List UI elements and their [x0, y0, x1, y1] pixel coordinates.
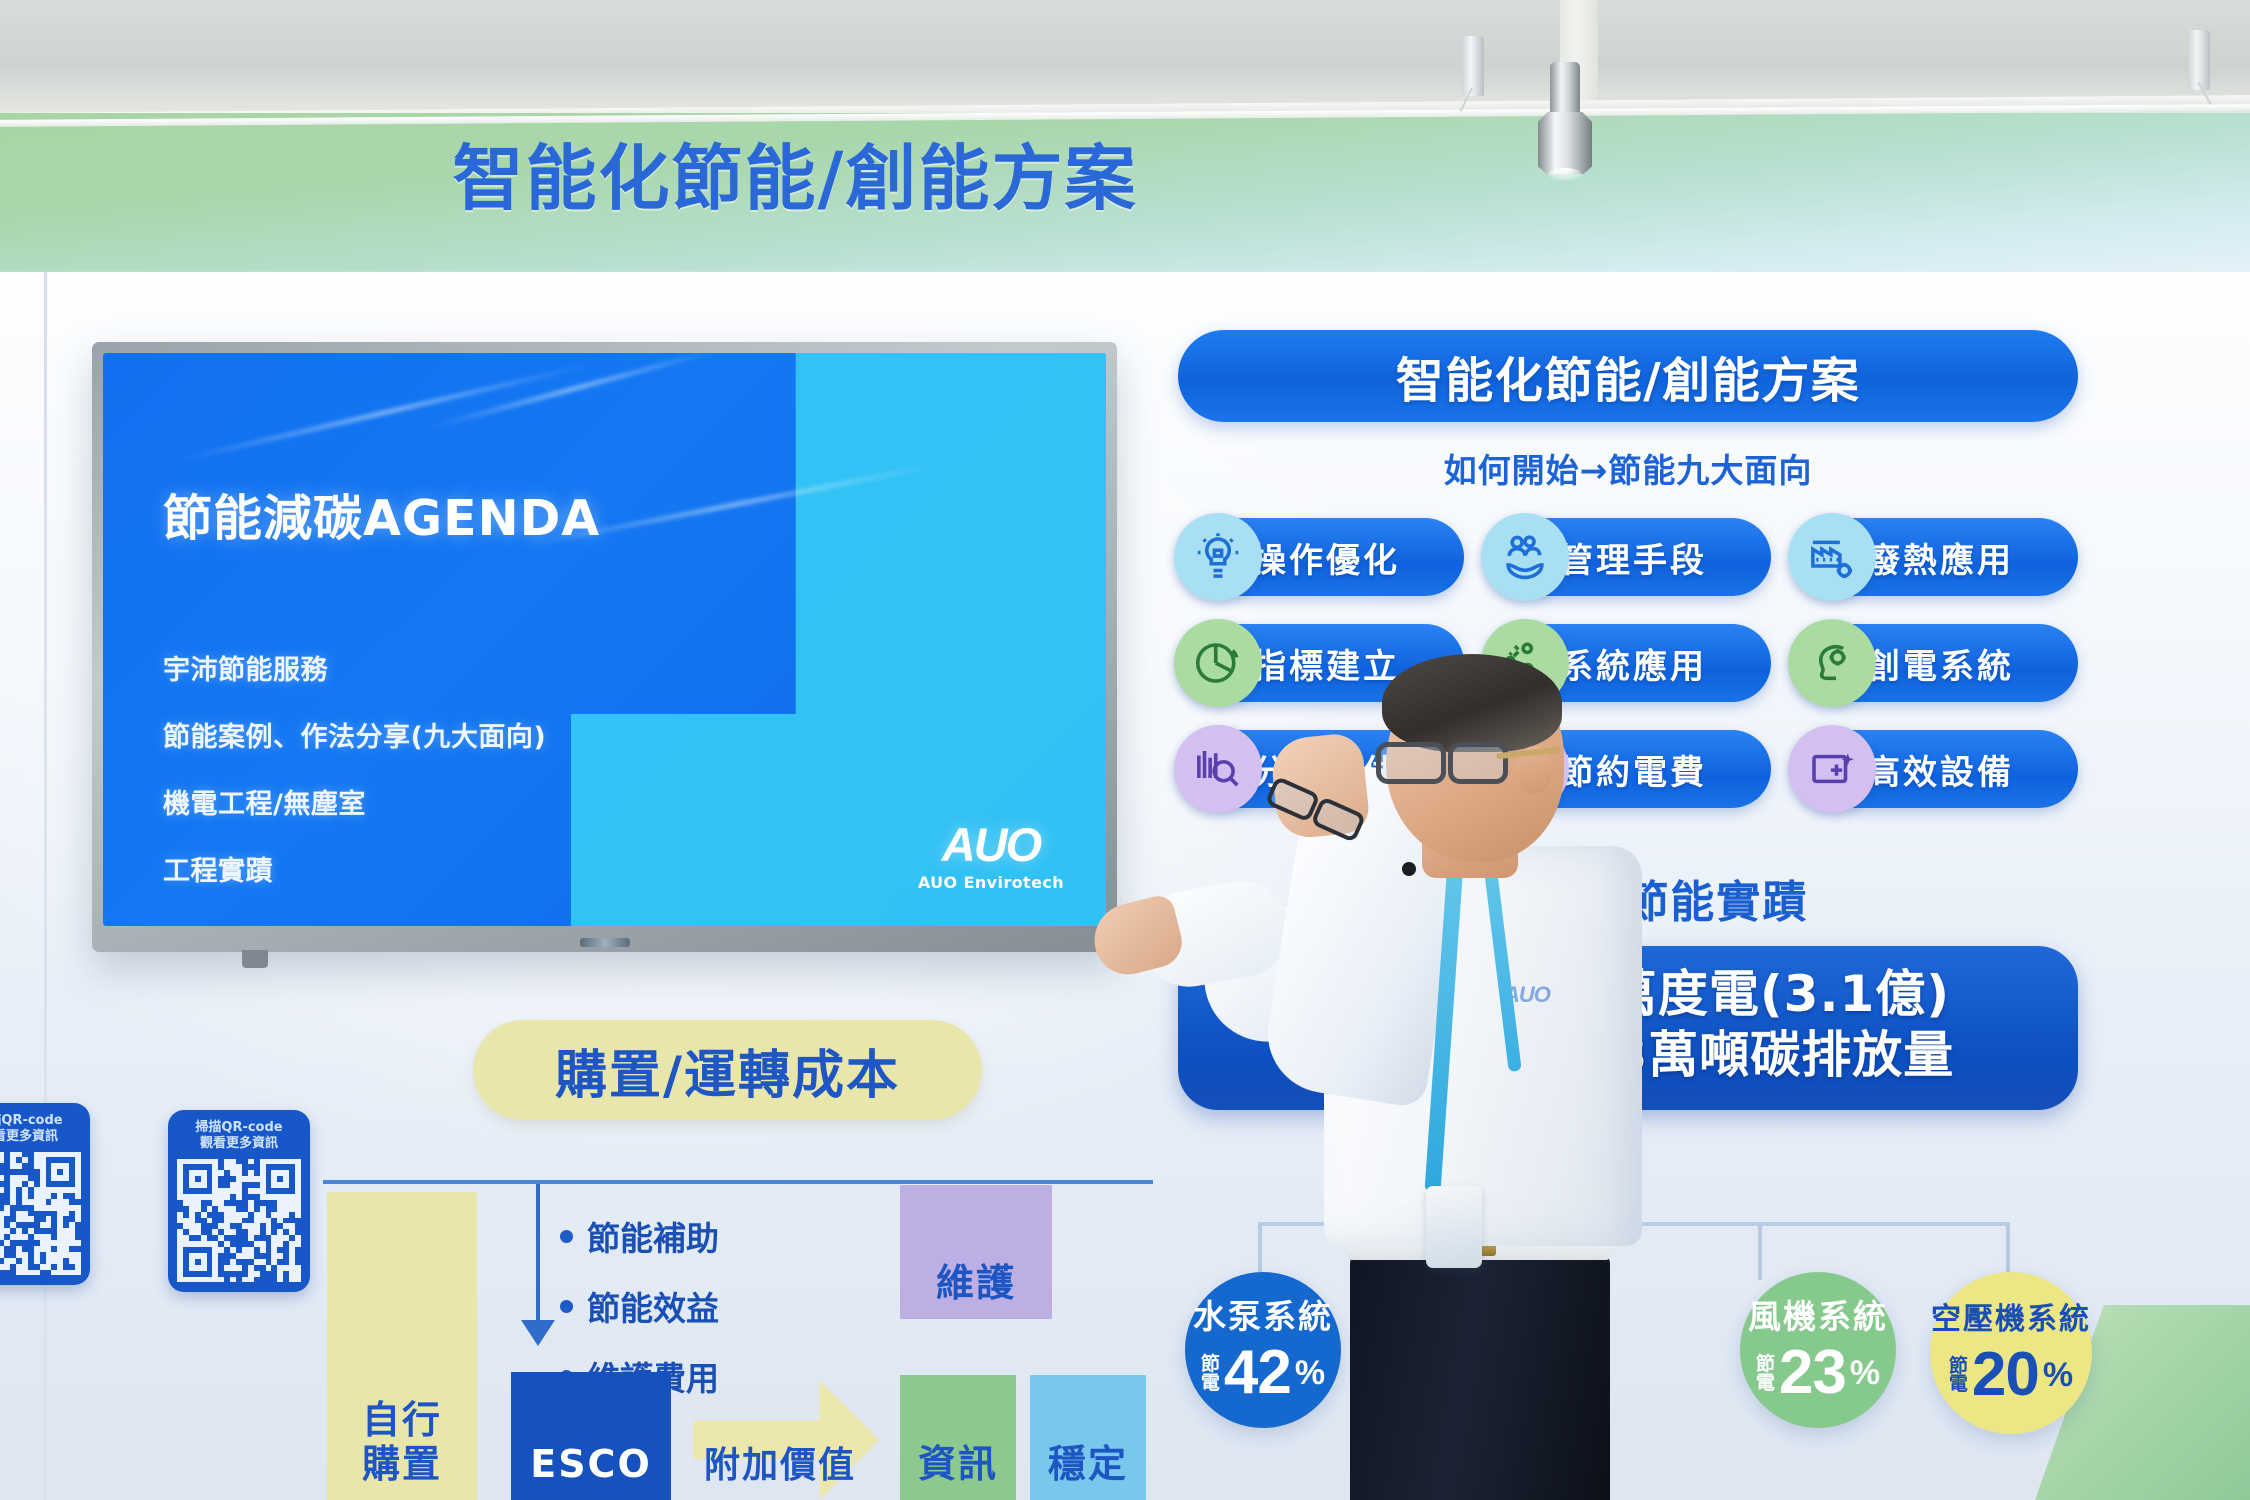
aspect-pill[interactable]: 廢熱應用	[1792, 518, 2078, 596]
kpi-system: 風機系統	[1748, 1300, 1888, 1333]
bullet-dot	[560, 1300, 573, 1313]
aspect-label: 管理手段	[1559, 533, 1707, 582]
kpi-prefix: 節電	[1201, 1355, 1220, 1391]
poster-heading: 智能化節能/創能方案	[1178, 330, 2078, 422]
presenter-id-badge	[1426, 1186, 1482, 1268]
cost-poster-heading: 購置/運轉成本	[473, 1020, 982, 1120]
cost-bar-label: 穩定	[1048, 1442, 1128, 1500]
kpi-value: 23	[1779, 1347, 1846, 1400]
presenter-trousers	[1350, 1250, 1610, 1500]
qr-caption: 掃描QR-code 觀看更多資訊	[177, 1120, 301, 1153]
brain-gear-icon	[1788, 619, 1876, 707]
booth-title: 智能化節能/創能方案	[0, 122, 1590, 224]
added-value-label: 附加價值	[695, 1436, 865, 1488]
slide-bullet-list: 宇沛節能服務 節能案例、作法分享(九大面向) 機電工程/無塵室 工程實蹟	[163, 648, 546, 888]
cost-bullet: 節能補助	[560, 1212, 719, 1260]
presentation-display[interactable]: 節能減碳AGENDA 宇沛節能服務 節能案例、作法分享(九大面向) 機電工程/無…	[92, 342, 1117, 952]
kpi-circle: 空壓機系統 節電 20 %	[1930, 1272, 2092, 1434]
exhibition-booth-scene: 智能化節能/創能方案 節能減碳AGENDA 宇沛節能服務 節能案例、作法分享(九…	[0, 0, 2250, 1500]
cost-bar-stability: 穩定	[1030, 1375, 1146, 1500]
qr-caption-line-2: 觀看更多資訊	[200, 1136, 278, 1151]
cost-bullet: 節能效益	[560, 1282, 719, 1330]
presenter-hair	[1382, 654, 1562, 752]
display-status-led	[580, 938, 630, 947]
display-mount-bracket	[242, 950, 268, 968]
qr-caption-line-2: 觀看更多資訊	[0, 1129, 58, 1144]
slide-bullet: 宇沛節能服務	[163, 648, 546, 687]
kpi-unit: %	[1850, 1354, 1880, 1393]
bullet-dot	[560, 1230, 573, 1243]
kpi-prefix: 節電	[1756, 1355, 1775, 1391]
cost-bar-label: 自行購置	[362, 1398, 442, 1500]
presenter-microphone	[1402, 862, 1416, 876]
qr-caption-line-1: 掃描QR-code	[195, 1120, 282, 1135]
kpi-circle: 風機系統 節電 23 %	[1740, 1272, 1896, 1428]
cost-bar-maintenance: 維護	[900, 1185, 1052, 1319]
slide-bullet: 節能案例、作法分享(九大面向)	[163, 715, 546, 754]
aspect-label: 高效設備	[1866, 745, 2014, 794]
cost-bar-label: 資訊	[918, 1442, 998, 1500]
cost-bullet-label: 節能補助	[587, 1212, 719, 1260]
cost-bar-esco: ESCO	[511, 1372, 671, 1500]
cost-chart-axis	[323, 1180, 1153, 1184]
auo-logo-subtitle: AUO Envirotech	[918, 873, 1064, 892]
cost-poster-heading-text: 購置/運轉成本	[555, 1033, 900, 1108]
auo-logo-mark: AUO	[918, 821, 1064, 868]
kpi-value: 20	[1972, 1349, 2039, 1402]
lightbulb-icon	[1174, 513, 1262, 601]
qr-code-card-partial[interactable]: 掃描QR-code 觀看更多資訊	[0, 1103, 90, 1285]
cost-bar-self-purchase: 自行購置	[327, 1192, 477, 1500]
kpi-prefix: 節電	[1949, 1357, 1968, 1393]
qr-code-image	[0, 1152, 81, 1276]
slide-bullet: 機電工程/無塵室	[163, 782, 546, 821]
factory-gear-icon	[1788, 513, 1876, 601]
slide-bullet: 工程實蹟	[163, 849, 546, 888]
poster-subheading: 如何開始→節能九大面向	[1178, 444, 2078, 492]
cost-chart-arrow-shaft	[536, 1184, 540, 1330]
qr-caption: 掃描QR-code 觀看更多資訊	[0, 1113, 81, 1146]
presenter-eyeglasses	[1376, 742, 1522, 786]
cost-bar-label: ESCO	[530, 1442, 652, 1500]
magnifier-data-icon	[1174, 725, 1262, 813]
qr-caption-line-1: 掃描QR-code	[0, 1113, 63, 1128]
cost-bullet-label: 節能效益	[587, 1282, 719, 1330]
qr-code-card[interactable]: 掃描QR-code 觀看更多資訊	[168, 1110, 310, 1292]
kpi-unit: %	[2043, 1356, 2073, 1395]
cost-bar-label: 維護	[936, 1261, 1016, 1319]
poster-heading-text: 智能化節能/創能方案	[1396, 341, 1861, 411]
aspect-pill[interactable]: 管理手段	[1485, 518, 1771, 596]
aspect-label: 創電系統	[1866, 639, 2014, 688]
aspect-label: 廢熱應用	[1866, 533, 2014, 582]
presenter: AUO	[1290, 650, 1690, 1500]
aspect-label: 操作優化	[1252, 533, 1400, 582]
people-hand-icon	[1481, 513, 1569, 601]
cost-bar-information: 資訊	[900, 1375, 1016, 1500]
auo-logo: AUO AUO Envirotech	[918, 821, 1064, 892]
display-screen: 節能減碳AGENDA 宇沛節能服務 節能案例、作法分享(九大面向) 機電工程/無…	[103, 353, 1106, 926]
slide-title: 節能減碳AGENDA	[163, 479, 600, 550]
aspect-pill[interactable]: 高效設備	[1792, 730, 2078, 808]
kpi-value: 42	[1224, 1347, 1291, 1400]
kpi-system: 空壓機系統	[1931, 1305, 2091, 1335]
aspect-pill[interactable]: 操作優化	[1178, 518, 1464, 596]
panel-sparkle-icon	[1788, 725, 1876, 813]
qr-code-image	[177, 1159, 301, 1283]
pie-chart-icon	[1174, 619, 1262, 707]
aspect-pill[interactable]: 創電系統	[1792, 624, 2078, 702]
wall-seam	[44, 272, 47, 1500]
